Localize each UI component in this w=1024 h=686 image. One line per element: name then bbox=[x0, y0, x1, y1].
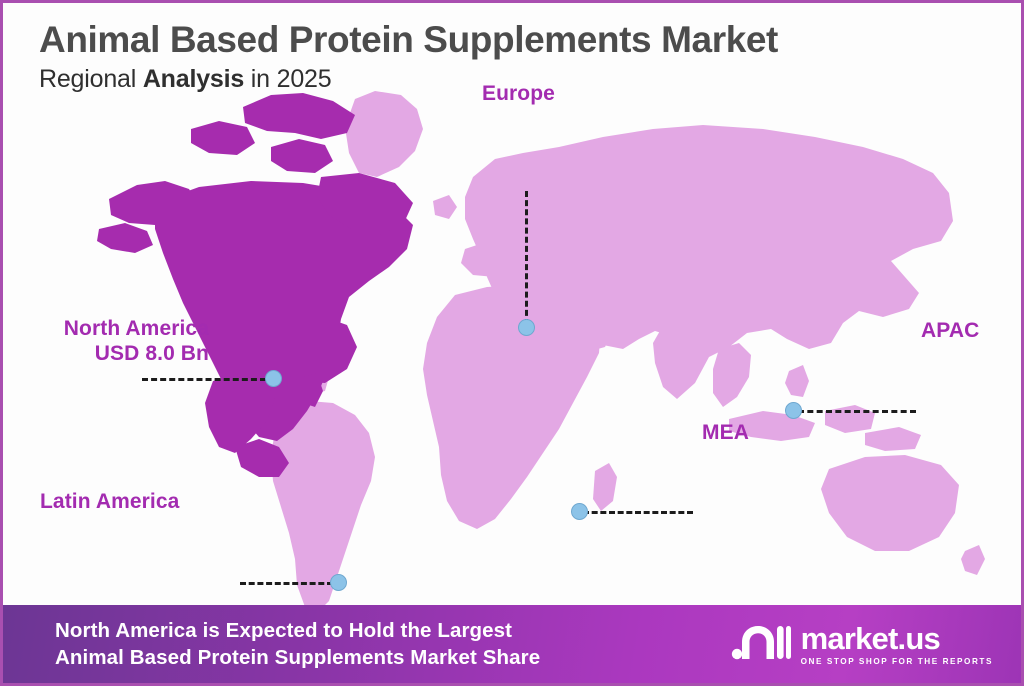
connector-apac bbox=[798, 410, 916, 413]
map-marker-apac[interactable] bbox=[785, 402, 802, 419]
connector-mea bbox=[583, 511, 693, 514]
brand-logo[interactable]: market.us ONE STOP SHOP FOR THE REPORTS bbox=[729, 621, 1005, 667]
page-title: Animal Based Protein Supplements Market bbox=[39, 19, 999, 60]
region-label-mea: MEA bbox=[702, 421, 749, 446]
infographic-root: Animal Based Protein Supplements Market … bbox=[0, 0, 1024, 686]
footer-headline: North America is Expected to Hold the La… bbox=[55, 617, 540, 672]
market-us-logo-icon bbox=[729, 621, 791, 667]
region-label-north-america: North America USD 8.0 Bn bbox=[17, 317, 209, 367]
footer-headline-line2: Animal Based Protein Supplements Market … bbox=[55, 644, 540, 671]
map-marker-north-america[interactable] bbox=[265, 370, 282, 387]
region-label-north-america-name: North America bbox=[17, 317, 209, 342]
footer-headline-line1: North America is Expected to Hold the La… bbox=[55, 617, 540, 644]
map-base-continents bbox=[271, 91, 985, 611]
logo-text: market.us ONE STOP SHOP FOR THE REPORTS bbox=[801, 623, 993, 666]
logo-tagline: ONE STOP SHOP FOR THE REPORTS bbox=[801, 657, 993, 666]
logo-wordmark: market.us bbox=[801, 623, 993, 654]
connector-latin-america bbox=[240, 582, 333, 585]
region-label-latin-america: Latin America bbox=[40, 490, 179, 515]
region-label-north-america-value: USD 8.0 Bn bbox=[17, 342, 209, 367]
map-marker-latin-america[interactable] bbox=[330, 574, 347, 591]
region-label-europe: Europe bbox=[482, 82, 555, 107]
connector-north-america bbox=[142, 378, 266, 381]
map-marker-europe[interactable] bbox=[518, 319, 535, 336]
map-marker-mea[interactable] bbox=[571, 503, 588, 520]
footer-banner: North America is Expected to Hold the La… bbox=[3, 605, 1024, 683]
connector-europe bbox=[525, 191, 528, 325]
region-label-apac: APAC bbox=[921, 319, 979, 344]
